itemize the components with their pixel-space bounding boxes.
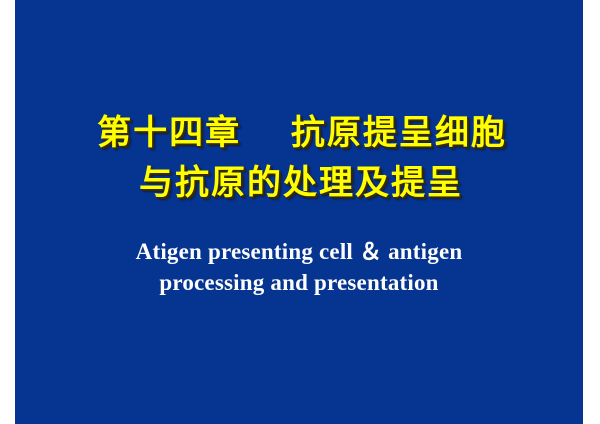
subtitle-line-1: Atigen presenting cell ＆ antigen — [15, 236, 583, 267]
slide-content-area: 第十四章 抗原提呈细胞 与抗原的处理及提呈 Atigen presenting … — [15, 0, 583, 424]
page-margin-right — [583, 0, 600, 424]
presentation-slide: 第十四章 抗原提呈细胞 与抗原的处理及提呈 Atigen presenting … — [0, 0, 600, 424]
title-line-2: 与抗原的处理及提呈 — [15, 158, 583, 208]
slide-title: 第十四章 抗原提呈细胞 与抗原的处理及提呈 — [15, 108, 583, 208]
page-margin-left — [0, 0, 15, 424]
title-line-1: 第十四章 抗原提呈细胞 — [15, 108, 583, 158]
slide-subtitle: Atigen presenting cell ＆ antigen process… — [15, 236, 583, 298]
subtitle-line-2: processing and presentation — [15, 267, 583, 298]
